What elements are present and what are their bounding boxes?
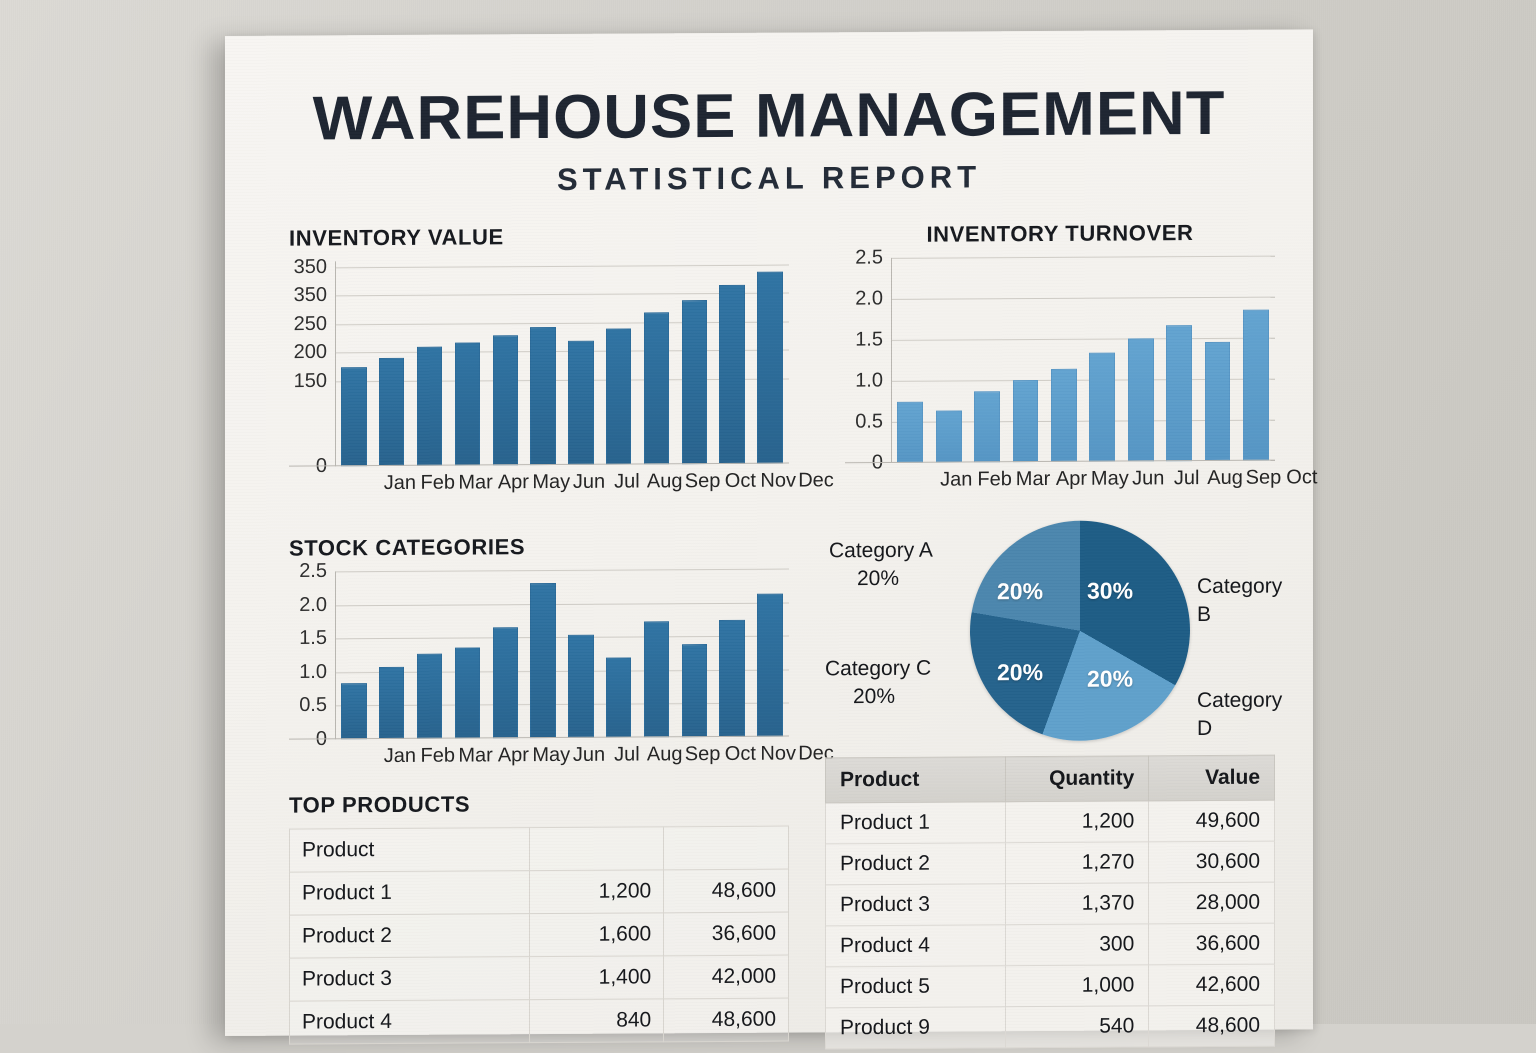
table-cell: Product 2 — [290, 914, 530, 958]
y-tick-label: 1.5 — [855, 328, 883, 351]
bar-slot — [335, 261, 373, 466]
bar-slot — [335, 571, 373, 739]
x-tick-label: Feb — [975, 468, 1013, 491]
bar-slot — [448, 570, 486, 738]
panel-inventory-turnover: INVENTORY TURNOVER 2.52.01.51.00.50 JanF… — [845, 220, 1275, 493]
table-header-cell — [529, 827, 664, 871]
bar-jun — [530, 583, 555, 738]
table-cell: 1,000 — [1005, 965, 1149, 1007]
pie-outer-label-b: Category B — [1197, 573, 1285, 630]
bar-slot — [411, 261, 449, 466]
table-header-cell: Value — [1149, 755, 1275, 801]
bar-slot — [486, 260, 524, 465]
pie-outer-label-a-name: Category A — [829, 539, 933, 563]
y-tick-label: 200 — [294, 341, 327, 364]
bar-slot — [411, 571, 449, 739]
y-tick-label: 350 — [294, 284, 327, 307]
bar-slot — [751, 569, 789, 737]
bar-slot — [1237, 256, 1275, 461]
chart-title-inventory-turnover: INVENTORY TURNOVER — [845, 220, 1275, 249]
pie-outer-label-d: Category D — [1197, 687, 1285, 744]
bar-slot — [1006, 257, 1044, 462]
bar-slot — [929, 257, 967, 462]
x-tick-label: Mar — [457, 744, 495, 767]
bar-mar — [417, 653, 442, 738]
pie-outer-label-c-name: Category C — [825, 657, 931, 681]
bar-oct — [682, 300, 707, 464]
table-product-detail: ProductQuantityValue Product 11,20049,60… — [825, 755, 1275, 1050]
bar-nov — [719, 285, 744, 464]
x-tick-label: Apr — [494, 471, 532, 494]
pie-slice-label-b: 30% — [1087, 577, 1133, 604]
bar-jul — [568, 340, 593, 465]
x-tick-label: Feb — [419, 472, 457, 495]
pie-outer-label-c: Category C 20% — [825, 655, 931, 712]
table-header-cell: Quantity — [1005, 756, 1149, 802]
x-tick-label: Jul — [608, 743, 646, 766]
bar-aug — [606, 658, 631, 738]
bar-sep — [1205, 342, 1231, 461]
bar-aug — [606, 329, 631, 465]
table-header-row: ProductQuantityValue — [826, 755, 1275, 803]
y-tick-label: 2.5 — [855, 246, 883, 269]
bar-slot — [373, 261, 411, 466]
bar-jan — [897, 402, 923, 463]
bar-slot — [1198, 256, 1236, 461]
bar-slot — [751, 259, 789, 464]
table-cell: 48,600 — [664, 869, 789, 913]
y-axis-stock-categories: 2.52.01.51.00.50 — [289, 571, 335, 739]
y-tick-label: 0.5 — [299, 694, 327, 717]
bar-dec — [757, 593, 782, 736]
x-tick-label: Jul — [608, 470, 646, 493]
x-tick-label: Aug — [1206, 467, 1244, 490]
y-axis-inventory-turnover: 2.52.01.51.00.50 — [845, 258, 891, 463]
panel-category-share: 20% 30% 20% 20% Category A 20% Category … — [825, 515, 1285, 763]
table-cell: Product 2 — [826, 843, 1006, 885]
bar-may — [493, 627, 518, 738]
bar-oct — [1243, 309, 1269, 460]
pie-outer-label-b-name: Category B — [1197, 575, 1282, 627]
x-tick-label: Sep — [684, 470, 722, 493]
table-cell: 36,600 — [664, 912, 789, 956]
x-tick-label: May — [532, 744, 570, 767]
bar-slot — [448, 260, 486, 465]
x-tick-label: Mar — [1014, 468, 1052, 491]
table-cell: Product 1 — [290, 871, 530, 915]
x-tick-label: Jan — [381, 745, 419, 768]
y-tick-label: 0.5 — [855, 410, 883, 433]
bar-jan — [341, 367, 366, 466]
report-poster: WAREHOUSE MANAGEMENT STATISTICAL REPORT … — [225, 29, 1313, 1036]
table-row[interactable]: Product 51,00042,600 — [826, 964, 1275, 1008]
x-tick-label: Apr — [494, 744, 532, 767]
y-tick-label: 150 — [294, 369, 327, 392]
bar-slot — [1083, 257, 1121, 462]
chart-inventory-turnover: 2.52.01.51.00.50 JanFebMarAprMayJunJulAu… — [845, 256, 1275, 493]
table-cell: Product 3 — [290, 957, 530, 1001]
bar-may — [493, 336, 518, 466]
pie-slice-label-d: 20% — [1087, 665, 1133, 692]
table-cell: 28,000 — [1149, 882, 1275, 924]
table-row[interactable]: Product 31,40042,000 — [290, 955, 789, 1001]
bar-slot — [675, 569, 713, 737]
bar-slot — [968, 257, 1006, 462]
table-row[interactable]: Product 21,27030,600 — [826, 841, 1275, 885]
table-cell: 1,370 — [1005, 883, 1149, 925]
table-header-cell: Product — [826, 757, 1006, 803]
pie-outer-label-a-pct: 20% — [829, 565, 933, 594]
y-tick-label: 250 — [294, 313, 327, 336]
bar-slot — [562, 260, 600, 465]
table-cell: 1,600 — [529, 913, 664, 957]
bar-jul — [1128, 338, 1154, 462]
chart-stock-categories: 2.52.01.51.00.50 JanFebMarAprMayJunJulAu… — [289, 569, 789, 769]
bar-jan — [341, 683, 366, 740]
y-tick-label: 2.0 — [855, 287, 883, 310]
table-cell: Product 1 — [826, 802, 1006, 844]
bar-slot — [638, 259, 676, 464]
table-row[interactable]: Product 31,37028,000 — [826, 882, 1275, 926]
table-row[interactable]: Product 11,20049,600 — [826, 800, 1275, 844]
x-axis-labels-inventory-turnover: JanFebMarAprMayJunJulAugSepOct — [937, 466, 1321, 491]
x-tick-label: Jul — [1167, 467, 1205, 490]
bar-apr — [455, 342, 480, 465]
pie-outer-label-d-name: Category D — [1197, 689, 1282, 741]
bar-dec — [757, 271, 782, 463]
bar-jun — [1089, 353, 1115, 462]
bars-inventory-value — [335, 259, 789, 467]
table-row[interactable]: Product 430036,600 — [826, 923, 1275, 967]
table-header-cell: Product — [290, 828, 530, 872]
x-tick-label: Oct — [721, 470, 759, 493]
table-row[interactable]: Product 484048,600 — [290, 998, 789, 1044]
bar-mar — [417, 347, 442, 466]
page-subtitle: STATISTICAL REPORT — [225, 157, 1313, 200]
bar-slot — [1160, 256, 1198, 461]
bar-slot — [524, 570, 562, 738]
bar-slot — [713, 259, 751, 464]
bar-feb — [379, 667, 404, 739]
x-tick-label: Oct — [721, 743, 759, 766]
bars-inventory-turnover — [891, 256, 1275, 463]
x-tick-label: Aug — [646, 743, 684, 766]
bar-slot — [713, 569, 751, 737]
table-cell: 1,200 — [529, 870, 664, 914]
table-header-row: Product — [290, 826, 789, 872]
table-cell: 49,600 — [1149, 800, 1275, 842]
bar-slot — [1045, 257, 1083, 462]
panel-top-products: TOP PRODUCTS Product Product 11,20048,60… — [289, 790, 789, 1045]
table-cell: 42,600 — [1149, 964, 1275, 1006]
x-tick-label: May — [1091, 467, 1129, 490]
y-tick-label: 1.0 — [299, 661, 327, 684]
bar-slot — [562, 570, 600, 738]
bar-mar — [974, 391, 1000, 462]
bar-aug — [1166, 325, 1192, 462]
table-cell: 300 — [1005, 924, 1149, 966]
chart-title-stock-categories: STOCK CATEGORIES — [289, 533, 789, 562]
table-cell: 36,600 — [1149, 923, 1275, 965]
bar-slot — [600, 569, 638, 737]
page-title: WAREHOUSE MANAGEMENT — [214, 77, 1324, 155]
bar-may — [1051, 369, 1077, 462]
chart-inventory-value: 3503502502001500 JanFebMarAprMayJunJulAu… — [289, 259, 789, 496]
table-top-products: Product Product 11,20048,600Product 21,6… — [289, 826, 789, 1045]
bar-jul — [568, 634, 593, 738]
table-cell: 48,600 — [664, 998, 789, 1042]
bar-slot — [373, 571, 411, 739]
bars-stock-categories — [335, 569, 789, 740]
table-cell: Product 3 — [826, 884, 1006, 926]
y-tick-label: 350 — [294, 256, 327, 279]
table-cell: Product 4 — [290, 1000, 530, 1044]
pie-slice-label-c: 20% — [997, 659, 1043, 686]
table-cell: 48,600 — [1149, 1005, 1275, 1047]
table-cell: 1,270 — [1005, 842, 1149, 884]
x-tick-label: Jan — [937, 468, 975, 491]
bar-slot — [486, 570, 524, 738]
y-tick-label: 1.0 — [855, 369, 883, 392]
table-cell: 1,400 — [529, 956, 664, 1000]
panel-product-detail: ProductQuantityValue Product 11,20049,60… — [825, 755, 1275, 1050]
table-row[interactable]: Product 21,60036,600 — [290, 912, 789, 958]
pie-outer-label-c-pct: 20% — [825, 683, 931, 712]
bar-slot — [675, 259, 713, 464]
x-tick-label: May — [532, 471, 570, 494]
table-cell: 30,600 — [1149, 841, 1275, 883]
x-tick-label: Nov — [759, 470, 797, 493]
x-tick-label: Apr — [1052, 468, 1090, 491]
table-cell: Product 4 — [826, 925, 1006, 967]
chart-title-inventory-value: INVENTORY VALUE — [289, 223, 789, 252]
bar-feb — [379, 358, 404, 466]
x-tick-label: Sep — [1244, 467, 1282, 490]
x-tick-label: Jun — [1129, 467, 1167, 490]
table-cell: 42,000 — [664, 955, 789, 999]
bar-apr — [1013, 381, 1039, 463]
panel-stock-categories: STOCK CATEGORIES 2.52.01.51.00.50 JanFeb… — [289, 533, 789, 769]
table-title-top-products: TOP PRODUCTS — [289, 790, 789, 819]
bar-apr — [455, 648, 480, 739]
bar-oct — [682, 644, 707, 737]
x-axis-labels-stock-categories: JanFebMarAprMayJunJulAugSepOctNovDec — [381, 742, 835, 768]
x-tick-label: Feb — [419, 745, 457, 768]
table-row[interactable]: Product 11,20048,600 — [290, 869, 789, 915]
pie-outer-label-a: Category A 20% — [829, 537, 933, 594]
pie-chart-category-share — [970, 520, 1190, 741]
bar-sep — [644, 312, 669, 464]
x-tick-label: Nov — [759, 743, 797, 766]
bar-slot — [638, 569, 676, 737]
bar-nov — [719, 620, 744, 737]
x-tick-label: Aug — [646, 470, 684, 493]
table-header-cell — [664, 826, 789, 870]
x-tick-label: Oct — [1283, 466, 1321, 489]
panel-inventory-value: INVENTORY VALUE 3503502502001500 JanFebM… — [289, 223, 789, 496]
bar-feb — [936, 410, 962, 462]
y-tick-label: 2.0 — [299, 593, 327, 616]
pie-slice-label-a: 20% — [997, 578, 1043, 605]
y-axis-inventory-value: 3503502502001500 — [289, 261, 335, 466]
table-cell: 540 — [1005, 1006, 1149, 1048]
table-row[interactable]: Product 954048,600 — [826, 1005, 1275, 1049]
x-tick-label: Jun — [570, 471, 608, 494]
x-tick-label: Jun — [570, 744, 608, 767]
y-tick-label: 2.5 — [299, 560, 327, 583]
bar-jun — [530, 327, 555, 465]
bar-slot — [1121, 256, 1159, 461]
x-tick-label: Jan — [381, 472, 419, 495]
x-tick-label: Sep — [684, 743, 722, 766]
table-cell: Product 5 — [826, 966, 1006, 1008]
x-tick-label: Dec — [797, 469, 835, 492]
y-tick-label: 1.5 — [299, 627, 327, 650]
table-cell: 840 — [529, 999, 664, 1043]
bar-slot — [600, 259, 638, 464]
table-cell: Product 9 — [826, 1007, 1006, 1049]
bar-sep — [644, 621, 669, 737]
x-tick-label: Mar — [457, 471, 495, 494]
bar-slot — [891, 258, 929, 463]
x-axis-labels-inventory-value: JanFebMarAprMayJunJulAugSepOctNovDec — [381, 469, 835, 495]
table-cell: 1,200 — [1005, 801, 1149, 843]
bar-slot — [524, 260, 562, 465]
